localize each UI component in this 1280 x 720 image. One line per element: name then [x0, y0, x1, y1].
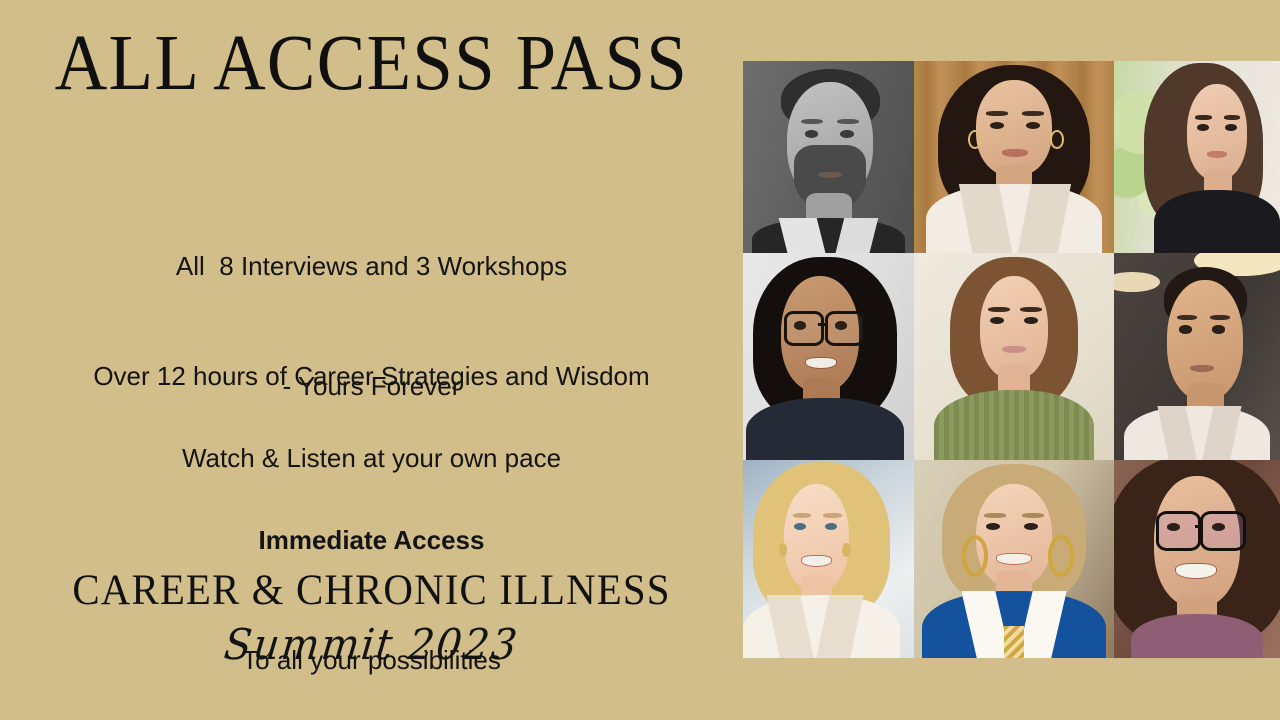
brand-name: CAREER & CHRONIC ILLNESS: [19, 566, 725, 615]
eyebrow-right: [1210, 315, 1230, 320]
glasses-bridge: [1195, 525, 1200, 528]
speaker-photo-9: [1114, 460, 1280, 658]
mouth-smile: [805, 357, 838, 369]
clothing-shape: [1154, 190, 1280, 253]
clothing-shape: [752, 218, 906, 253]
glasses-left-lens: [1156, 511, 1202, 551]
mouth: [1002, 149, 1028, 157]
speaker-photo-grid: [743, 61, 1280, 658]
eye-left: [1197, 124, 1209, 131]
speaker-photo-7: [743, 460, 914, 658]
face-shape: [1167, 280, 1243, 400]
eye-left: [794, 321, 806, 329]
mouth-smile: [801, 555, 832, 567]
face-shape: [976, 80, 1052, 176]
all-access-pass-slide: ALL ACCESS PASS All 8 Interviews and 3 W…: [0, 0, 1280, 720]
mouth: [1190, 365, 1213, 372]
earring-right: [842, 543, 851, 557]
eyebrow-left: [1177, 315, 1197, 320]
clothing-shape: [1131, 614, 1264, 658]
gold-hoop-earring-left: [962, 535, 988, 577]
eyebrow-right: [1224, 115, 1241, 120]
eye-left: [805, 130, 819, 138]
clothing-shape: [926, 184, 1102, 253]
speaker-photo-2: [914, 61, 1114, 253]
speaker-photo-5: [914, 253, 1114, 460]
eyebrow-right: [1020, 307, 1042, 312]
eyebrow-right: [1022, 111, 1044, 116]
text-column: ALL ACCESS PASS All 8 Interviews and 3 W…: [0, 0, 743, 720]
mouth-smile: [1175, 563, 1217, 579]
gold-necklace: [1004, 626, 1024, 658]
eyebrow-left: [986, 111, 1008, 116]
eye-right: [1212, 325, 1225, 333]
glasses-right-lens: [1200, 511, 1246, 551]
eyebrow-left: [988, 307, 1010, 312]
clothing-shape: [1124, 406, 1270, 460]
brand-script-summit-year: Summit 2023: [0, 621, 746, 670]
eye-right: [835, 321, 847, 329]
eyebrow-left: [1195, 115, 1212, 120]
gold-hoop-earring-right: [1048, 535, 1074, 577]
mouth: [1207, 151, 1227, 158]
mouth-smile: [996, 553, 1032, 565]
glasses-bridge: [818, 323, 825, 326]
face-shape: [980, 276, 1048, 380]
speaker-photo-1: [743, 61, 914, 253]
page-title: ALL ACCESS PASS: [30, 24, 714, 103]
speaker-photo-8: [914, 460, 1114, 658]
clothing-shape: [746, 398, 903, 460]
eye-left: [1179, 325, 1192, 333]
face-shape: [1187, 84, 1247, 180]
speaker-photo-4: [743, 253, 914, 460]
speaker-photo-3: [1114, 61, 1280, 253]
eye-right: [840, 130, 854, 138]
speaker-photo-6: [1114, 253, 1280, 460]
clothing-shape: [934, 390, 1094, 460]
immediate-access-heading: Immediate Access: [0, 520, 743, 560]
eye-right: [1225, 124, 1237, 131]
